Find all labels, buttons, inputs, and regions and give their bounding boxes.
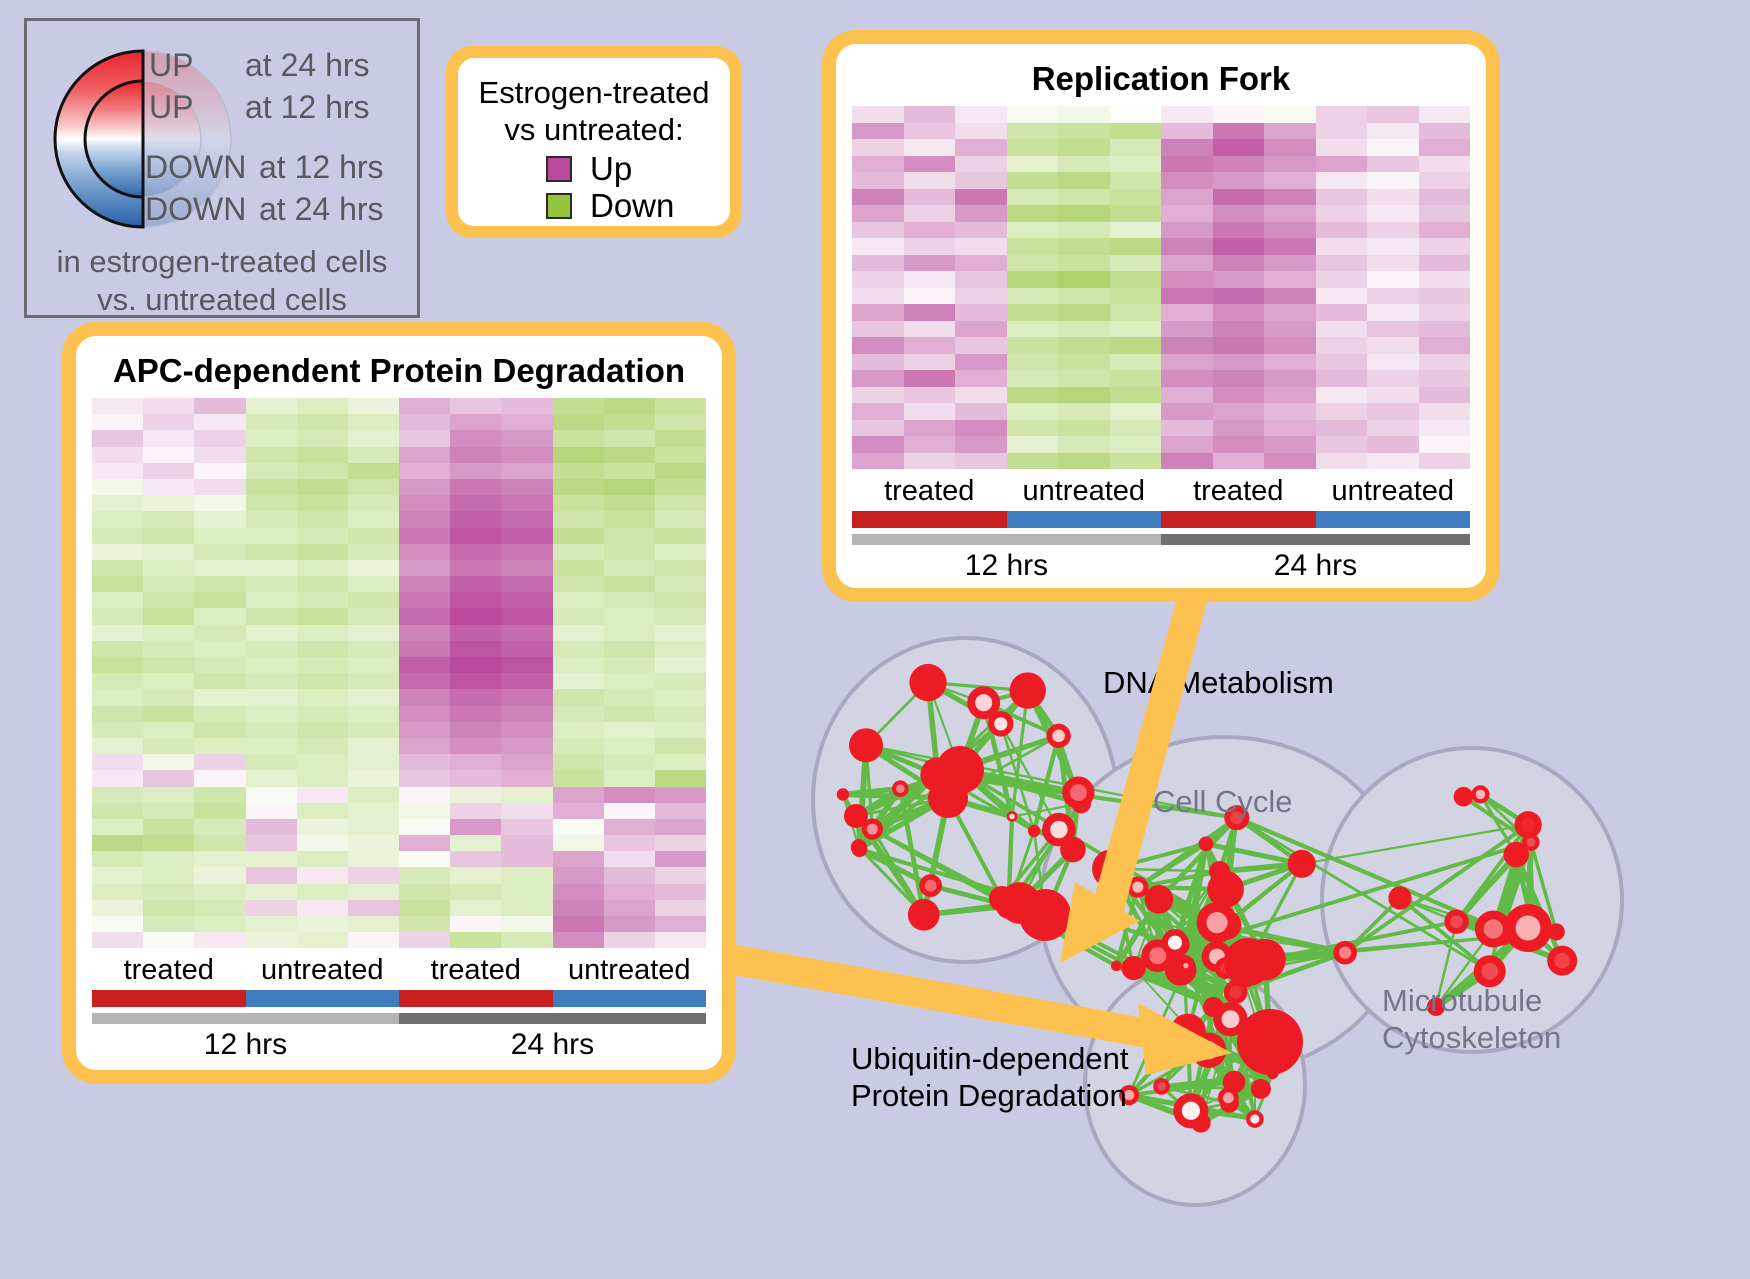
- node-core: [1450, 915, 1463, 928]
- heatmap-cell: [1316, 453, 1368, 470]
- heatmap-cell: [246, 528, 297, 544]
- heatmap-cell: [1007, 354, 1059, 371]
- heatmap-cell: [553, 641, 604, 657]
- network-node[interactable]: [1514, 811, 1541, 838]
- node-core: [1052, 730, 1065, 743]
- apc-heatmap: [92, 398, 706, 948]
- heatmap-cell: [399, 932, 450, 948]
- heatmap-cell: [1110, 436, 1162, 453]
- heatmap-cell: [297, 932, 348, 948]
- heatmap-cell: [1110, 156, 1162, 173]
- heatmap-cell: [194, 673, 245, 689]
- heatmap-cell: [1161, 387, 1213, 404]
- heatmap-cell: [246, 754, 297, 770]
- network-node[interactable]: [1062, 776, 1094, 808]
- network-node[interactable]: [988, 711, 1013, 736]
- network-node[interactable]: [1209, 861, 1230, 882]
- heatmap-cell: [852, 172, 904, 189]
- heatmap-cell: [143, 479, 194, 495]
- heatmap-cell: [1316, 370, 1368, 387]
- heatmap-cell: [450, 479, 501, 495]
- heatmap-cell: [348, 544, 399, 560]
- heatmap-cell: [297, 608, 348, 624]
- heatmap-cell: [501, 673, 552, 689]
- heatmap-cell: [852, 304, 904, 321]
- heatmap-cell: [1007, 321, 1059, 338]
- group-color-bar: [1161, 511, 1316, 528]
- heatmap-cell: [143, 560, 194, 576]
- heatmap-cell: [399, 430, 450, 446]
- heatmap-cell: [1316, 139, 1368, 156]
- heatmap-cell: [1161, 420, 1213, 437]
- heatmap-cell: [1213, 354, 1265, 371]
- network-node[interactable]: [919, 874, 942, 897]
- heatmap-cell: [655, 738, 706, 754]
- network-node[interactable]: [1288, 850, 1316, 878]
- heatmap-cell: [450, 398, 501, 414]
- network-node[interactable]: [844, 804, 868, 828]
- heatmap-cell: [655, 576, 706, 592]
- heatmap-cell: [194, 430, 245, 446]
- heatmap-cell: [1110, 238, 1162, 255]
- heatmap-cell: [1110, 370, 1162, 387]
- node-core: [1223, 1092, 1234, 1103]
- heatmap-cell: [501, 738, 552, 754]
- node-ring: [1223, 1071, 1246, 1094]
- network-node[interactable]: [1173, 1093, 1208, 1128]
- colorscale-legend-box: UP at 24 hrs UP at 12 hrs DOWN at 12 hrs…: [24, 18, 420, 318]
- network-node[interactable]: [852, 841, 868, 857]
- heatmap-cell: [1419, 436, 1471, 453]
- network-node[interactable]: [1224, 938, 1272, 986]
- node-ring: [837, 788, 849, 800]
- network-node[interactable]: [1046, 724, 1070, 748]
- heatmap-cell: [655, 835, 706, 851]
- heatmap-cell: [450, 770, 501, 786]
- heatmap-cell: [604, 706, 655, 722]
- node-ring: [849, 728, 883, 762]
- heatmap-cell: [501, 463, 552, 479]
- network-node[interactable]: [1251, 1079, 1271, 1099]
- node-core: [1183, 963, 1188, 968]
- heatmap-cell: [1213, 337, 1265, 354]
- heatmap-cell: [604, 689, 655, 705]
- heatmap-cell: [501, 544, 552, 560]
- heatmap-cell: [655, 592, 706, 608]
- heatmap-cell: [604, 900, 655, 916]
- apc-treatment-bar: [92, 990, 706, 1007]
- network-node[interactable]: [1444, 909, 1468, 933]
- heatmap-cell: [348, 900, 399, 916]
- heatmap-cell: [553, 544, 604, 560]
- network-node[interactable]: [1127, 876, 1148, 897]
- heatmap-cell: [1110, 354, 1162, 371]
- heatmap-cell: [1007, 238, 1059, 255]
- heatmap-cell: [655, 754, 706, 770]
- node-core: [1050, 821, 1067, 838]
- heatmap-cell: [92, 867, 143, 883]
- heatmap-cell: [655, 867, 706, 883]
- heatmap-cell: [246, 770, 297, 786]
- heatmap-cell: [904, 238, 956, 255]
- heatmap-cell: [1110, 189, 1162, 206]
- group-label: treated: [852, 475, 1007, 508]
- heatmap-cell: [194, 916, 245, 932]
- heatmap-cell: [852, 189, 904, 206]
- replication-fork-panel: Replication Fork treateduntreatedtreated…: [822, 30, 1500, 602]
- heatmap-cell: [553, 398, 604, 414]
- heatmap-cell: [655, 430, 706, 446]
- heatmap-cell: [501, 819, 552, 835]
- heatmap-cell: [1316, 156, 1368, 173]
- network-node[interactable]: [1504, 904, 1552, 952]
- network-node[interactable]: [1333, 941, 1357, 965]
- heatmap-cell: [246, 706, 297, 722]
- heatmap-cell: [92, 625, 143, 641]
- heatmap-cell: [604, 511, 655, 527]
- network-node[interactable]: [1007, 811, 1018, 822]
- heatmap-cell: [904, 271, 956, 288]
- heatmap-cell: [450, 867, 501, 883]
- node-core: [1250, 1114, 1259, 1123]
- heatmap-cell: [655, 770, 706, 786]
- heatmap-cell: [450, 576, 501, 592]
- heatmap-cell: [1316, 238, 1368, 255]
- pathway-network-graph: [800, 610, 1750, 1279]
- heatmap-cell: [904, 139, 956, 156]
- heatmap-cell: [399, 900, 450, 916]
- heatmap-cell: [399, 738, 450, 754]
- network-node[interactable]: [908, 899, 940, 931]
- heatmap-cell: [604, 738, 655, 754]
- node-ring: [1251, 1079, 1271, 1099]
- network-node[interactable]: [1237, 1009, 1303, 1075]
- network-node[interactable]: [837, 788, 849, 800]
- heatmap-cell: [1367, 271, 1419, 288]
- node-ring: [1019, 889, 1071, 941]
- heatmap-cell: [501, 754, 552, 770]
- heatmap-cell: [399, 463, 450, 479]
- heatmap-cell: [1110, 403, 1162, 420]
- heatmap-cell: [852, 436, 904, 453]
- heatmap-cell: [1007, 403, 1059, 420]
- network-node[interactable]: [1019, 889, 1071, 941]
- heatmap-cell: [553, 560, 604, 576]
- network-node[interactable]: [1471, 785, 1489, 803]
- heatmap-cell: [348, 463, 399, 479]
- heatmap-cell: [501, 528, 552, 544]
- heatmap-cell: [348, 479, 399, 495]
- heatmap-cell: [246, 884, 297, 900]
- heatmap-cell: [1419, 255, 1471, 272]
- heatmap-cell: [501, 430, 552, 446]
- heatmap-cell: [553, 706, 604, 722]
- node-ring: [1237, 1009, 1303, 1075]
- heatmap-cell: [399, 625, 450, 641]
- network-node[interactable]: [1161, 929, 1188, 956]
- network-node[interactable]: [989, 886, 1015, 912]
- heatmap-cell: [904, 106, 956, 123]
- heatmap-cell: [194, 576, 245, 592]
- heatmap-cell: [904, 337, 956, 354]
- heatmap-cell: [92, 722, 143, 738]
- heatmap-cell: [194, 851, 245, 867]
- heatmap-cell: [1213, 436, 1265, 453]
- heatmap-cell: [246, 430, 297, 446]
- heatmap-cell: [1007, 156, 1059, 173]
- heatmap-cell: [143, 803, 194, 819]
- network-node[interactable]: [1191, 1032, 1226, 1067]
- heatmap-cell: [604, 770, 655, 786]
- heatmap-cell: [1419, 354, 1471, 371]
- heatmap-cell: [92, 608, 143, 624]
- node-ring: [909, 664, 946, 701]
- heatmap-cell: [143, 770, 194, 786]
- node-ring: [1288, 850, 1316, 878]
- network-node[interactable]: [1111, 960, 1122, 971]
- heatmap-cell: [297, 560, 348, 576]
- network-node[interactable]: [1388, 886, 1411, 909]
- node-core: [1199, 1041, 1217, 1059]
- heatmap-cell: [553, 932, 604, 948]
- heatmap-cell: [904, 123, 956, 140]
- heatmap-cell: [1316, 172, 1368, 189]
- legend-word-up-24: UP: [149, 47, 193, 84]
- heatmap-cell: [955, 156, 1007, 173]
- node-core: [1484, 919, 1503, 938]
- heatmap-cell: [1110, 255, 1162, 272]
- heatmap-cell: [553, 851, 604, 867]
- heatmap-cell: [450, 916, 501, 932]
- heatmap-cell: [1110, 222, 1162, 239]
- heatmap-cell: [194, 544, 245, 560]
- heatmap-cell: [1367, 321, 1419, 338]
- heatmap-cell: [143, 673, 194, 689]
- heatmap-cell: [904, 255, 956, 272]
- heatmap-cell: [246, 932, 297, 948]
- node-ring: [989, 886, 1015, 912]
- heatmap-cell: [1213, 238, 1265, 255]
- heatmap-cell: [348, 738, 399, 754]
- heatmap-cell: [604, 544, 655, 560]
- network-node[interactable]: [1454, 787, 1474, 807]
- heatmap-cell: [955, 238, 1007, 255]
- heatmap-cell: [450, 414, 501, 430]
- node-ring: [844, 804, 868, 828]
- node-core: [867, 824, 878, 835]
- heatmap-cell: [1213, 321, 1265, 338]
- network-node[interactable]: [1547, 946, 1577, 976]
- heatmap-cell: [297, 706, 348, 722]
- node-core: [1476, 790, 1485, 799]
- heatmap-cell: [348, 495, 399, 511]
- node-core: [1526, 838, 1535, 847]
- heatmap-cell: [1264, 139, 1316, 156]
- network-node[interactable]: [1246, 1110, 1264, 1128]
- heatmap-cell: [348, 754, 399, 770]
- heatmap-cell: [348, 673, 399, 689]
- heatmap-cell: [143, 430, 194, 446]
- heatmap-cell: [143, 932, 194, 948]
- heatmap-cell: [143, 738, 194, 754]
- heatmap-cell: [501, 706, 552, 722]
- heatmap-cell: [1419, 222, 1471, 239]
- heatmap-cell: [1007, 288, 1059, 305]
- heatmap-cell: [655, 932, 706, 948]
- heatmap-cell: [553, 900, 604, 916]
- heatmap-cell: [955, 436, 1007, 453]
- heatmap-cell: [904, 172, 956, 189]
- heatmap-cell: [450, 544, 501, 560]
- heatmap-cell: [1007, 453, 1059, 470]
- heatmap-cell: [1419, 387, 1471, 404]
- node-core: [1222, 1010, 1240, 1028]
- network-node[interactable]: [1145, 885, 1174, 914]
- heatmap-cell: [143, 414, 194, 430]
- heatmap-cell: [246, 641, 297, 657]
- heatmap-cell: [501, 608, 552, 624]
- heatmap-cell: [1213, 403, 1265, 420]
- heatmap-cell: [1316, 420, 1368, 437]
- network-node[interactable]: [909, 664, 946, 701]
- node-core: [1206, 912, 1227, 933]
- network-node[interactable]: [1028, 825, 1040, 837]
- node-ring: [928, 778, 968, 818]
- heatmap-cell: [399, 544, 450, 560]
- heatmap-cell: [450, 689, 501, 705]
- heatmap-cell: [1316, 387, 1368, 404]
- heatmap-cell: [501, 835, 552, 851]
- heatmap-cell: [399, 657, 450, 673]
- heatmap-cell: [604, 447, 655, 463]
- heatmap-cell: [92, 884, 143, 900]
- network-node[interactable]: [892, 780, 909, 797]
- heatmap-cell: [1316, 123, 1368, 140]
- heatmap-cell: [501, 722, 552, 738]
- heatmap-cell: [399, 884, 450, 900]
- heatmap-cell: [1161, 370, 1213, 387]
- network-node[interactable]: [1153, 1078, 1170, 1095]
- heatmap-cell: [297, 738, 348, 754]
- heatmap-cell: [1058, 222, 1110, 239]
- heatmap-cell: [655, 673, 706, 689]
- heatmap-cell: [246, 463, 297, 479]
- heatmap-cell: [143, 819, 194, 835]
- heatmap-cell: [1367, 370, 1419, 387]
- heatmap-cell: [955, 205, 1007, 222]
- apc-time-bar: [92, 1013, 706, 1024]
- heatmap-cell: [955, 255, 1007, 272]
- heatmap-cell: [348, 511, 399, 527]
- heatmap-cell: [194, 932, 245, 948]
- heatmap-cell: [553, 511, 604, 527]
- heatmap-cell: [399, 414, 450, 430]
- network-node[interactable]: [1197, 902, 1238, 943]
- heatmap-cell: [246, 495, 297, 511]
- network-node[interactable]: [1010, 672, 1046, 708]
- heatmap-cell: [399, 576, 450, 592]
- heatmap-cell: [1264, 321, 1316, 338]
- label-dna-metabolism: DNA Metabolism: [1103, 664, 1334, 701]
- group-label: untreated: [553, 954, 707, 987]
- heatmap-cell: [297, 787, 348, 803]
- heatmap-cell: [604, 414, 655, 430]
- network-node[interactable]: [1181, 961, 1191, 971]
- network-node[interactable]: [849, 728, 883, 762]
- heatmap-cell: [92, 463, 143, 479]
- group-color-bar: [1007, 511, 1162, 528]
- heatmap-cell: [348, 884, 399, 900]
- heatmap-cell: [604, 932, 655, 948]
- heatmap-cell: [501, 803, 552, 819]
- heatmap-cell: [553, 867, 604, 883]
- heatmap-cell: [399, 787, 450, 803]
- heatmap-cell: [1110, 420, 1162, 437]
- heatmap-cell: [348, 787, 399, 803]
- heatmap-cell: [1419, 403, 1471, 420]
- node-core: [896, 784, 905, 793]
- apc-time-labels: 12 hrs24 hrs: [92, 1028, 706, 1062]
- heatmap-cell: [1264, 436, 1316, 453]
- node-core: [1182, 1102, 1200, 1120]
- node-ring: [908, 899, 940, 931]
- heatmap-cell: [450, 673, 501, 689]
- heatmap-cell: [1007, 123, 1059, 140]
- heatmap-cell: [399, 479, 450, 495]
- heatmap-cell: [348, 414, 399, 430]
- node-ring: [1111, 960, 1122, 971]
- heatmap-cell: [655, 884, 706, 900]
- heatmap-cell: [1161, 403, 1213, 420]
- heatmap-cell: [655, 787, 706, 803]
- heatmap-cell: [1007, 436, 1059, 453]
- heatmap-cell: [955, 321, 1007, 338]
- heatmap-cell: [1161, 106, 1213, 123]
- network-node[interactable]: [1223, 1071, 1246, 1094]
- heatmap-cell: [143, 447, 194, 463]
- heatmap-cell: [655, 916, 706, 932]
- heatmap-cell: [955, 288, 1007, 305]
- heatmap-cell: [1367, 106, 1419, 123]
- heatmap-cell: [297, 916, 348, 932]
- heatmap-cell: [1367, 403, 1419, 420]
- heatmap-cell: [1316, 271, 1368, 288]
- heatmap-cell: [297, 722, 348, 738]
- heatmap-cell: [348, 803, 399, 819]
- legend-footer: in estrogen-treated cells vs. untreated …: [27, 243, 417, 320]
- network-node[interactable]: [1092, 849, 1131, 888]
- heatmap-cell: [655, 463, 706, 479]
- network-node[interactable]: [1199, 836, 1214, 851]
- network-node[interactable]: [928, 778, 968, 818]
- node-ring: [1224, 938, 1272, 986]
- heatmap-cell: [399, 706, 450, 722]
- node-core: [1394, 892, 1406, 904]
- heatmap-cell: [297, 819, 348, 835]
- heatmap-cell: [1007, 337, 1059, 354]
- up-color-swatch: [546, 156, 572, 182]
- heatmap-cell: [1264, 106, 1316, 123]
- heatmap-cell: [297, 625, 348, 641]
- heatmap-cell: [143, 608, 194, 624]
- heatmap-cell: [143, 592, 194, 608]
- network-node[interactable]: [1060, 837, 1086, 863]
- heatmap-cell: [1367, 337, 1419, 354]
- heatmap-cell: [92, 657, 143, 673]
- heatmap-cell: [852, 156, 904, 173]
- heatmap-cell: [852, 337, 904, 354]
- heatmap-cell: [1316, 403, 1368, 420]
